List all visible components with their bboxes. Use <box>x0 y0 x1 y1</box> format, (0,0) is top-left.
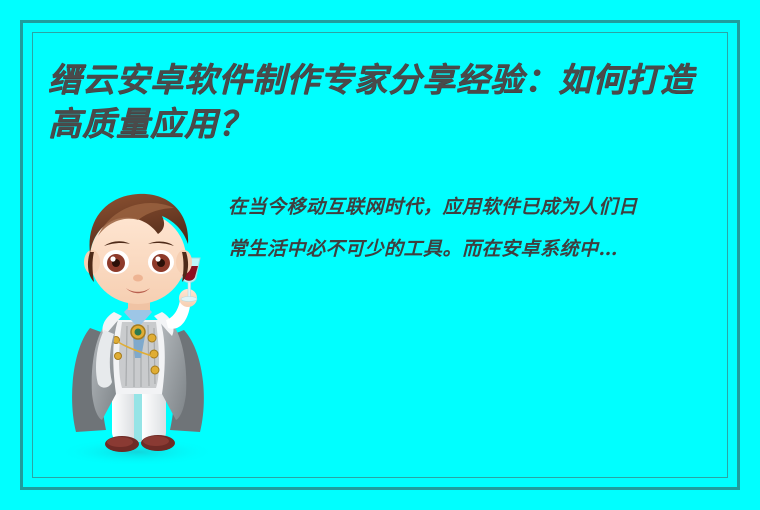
article-excerpt: 在当今移动互联网时代，应用软件已成为人们日常生活中必不可少的工具。而在安卓系统中… <box>228 186 648 270</box>
right-eye-glint <box>155 256 160 261</box>
left-shoe-highlight <box>107 437 133 447</box>
nose <box>133 275 143 282</box>
left-eye-glint <box>110 256 115 261</box>
character-illustration <box>42 180 232 465</box>
page-title: 缙云安卓软件制作专家分享经验：如何打造高质量应用？ <box>48 58 720 146</box>
right-shoe-highlight <box>143 436 169 446</box>
poster-canvas: 缙云安卓软件制作专家分享经验：如何打造高质量应用？ 在当今移动互联网时代，应用软… <box>0 0 760 510</box>
